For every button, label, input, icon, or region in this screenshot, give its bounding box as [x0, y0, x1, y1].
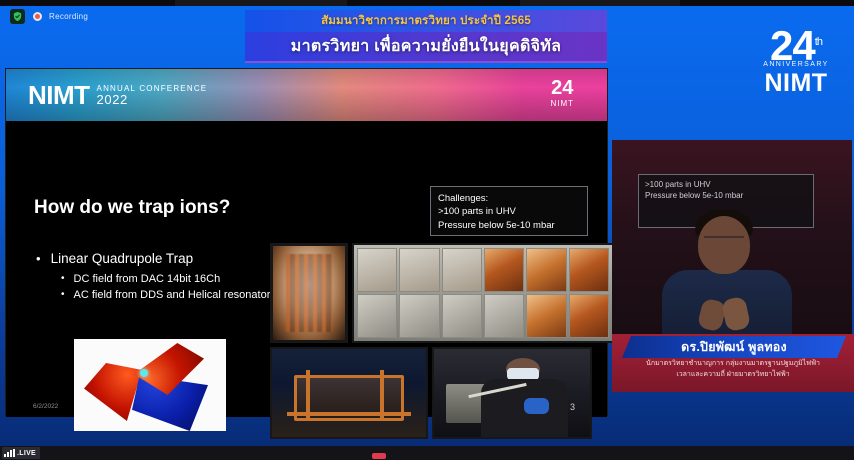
slide-logo-org: NIMT — [550, 99, 574, 108]
challenges-heading: Challenges: — [438, 192, 580, 205]
speaker-lower-third: ดร.ปิยพัฒน์ พูลทอง นักมาตรวิทยาชำนาญการ … — [612, 334, 854, 392]
speaker-name-strip: ดร.ปิยพัฒน์ พูลทอง — [622, 336, 846, 358]
live-badge[interactable]: .LIVE — [2, 447, 40, 459]
slide-nimt-wordmark: NIMT ANNUAL CONFERENCE 2022 — [28, 83, 207, 108]
photo-uhv-parts-tray — [352, 243, 614, 343]
challenges-line2: Pressure below 5e-10 mbar — [438, 219, 580, 232]
shared-screen-slide[interactable]: NIMT ANNUAL CONFERENCE 2022 24 NIMT How … — [5, 68, 608, 416]
slide-footer-date: 6/2/2022 — [33, 403, 58, 410]
bullet-level2: • AC field from DDS and Helical resonato… — [61, 288, 271, 303]
challenges-line1: >100 parts in UHV — [438, 205, 580, 218]
slide-anniversary-logo: 24 NIMT — [550, 78, 574, 108]
seminar-title-banner: สัมมนาวิชาการมาตรวิทยา ประจำปี 2565 มาตร… — [245, 10, 607, 63]
seminar-banner-line1-row: สัมมนาวิชาการมาตรวิทยา ประจำปี 2565 — [245, 10, 607, 32]
photo-researcher-holding-assembly — [432, 347, 592, 439]
speaker-name: ดร.ปิยพัฒน์ พูลทอง — [681, 337, 787, 357]
speaker-affiliation-line1: นักมาตรวิทยาชำนาญการ กลุ่มงานมาตรฐานปฐมภ… — [612, 359, 854, 370]
shield-check-icon — [10, 9, 25, 24]
bullet-dot-icon: • — [36, 251, 41, 267]
speaker-affiliation-line2: เวลาและความถี่ ฝ่ายมาตรวิทยาไฟฟ้า — [612, 370, 854, 381]
slide-page-number: 3 — [570, 402, 575, 412]
photo-optical-bench-assembly — [270, 347, 428, 439]
seminar-banner-line2-row: มาตรวิทยา เพื่อความยั่งยืนในยุคดิจิทัล — [245, 32, 607, 63]
bullet-dot-icon: • — [61, 288, 65, 303]
slide-bullet-list: • Linear Quadrupole Trap • DC field from… — [36, 251, 271, 305]
anniversary-ordinal: th — [815, 36, 822, 48]
bullet-level2-text: DC field from DAC 14bit 16Ch — [74, 272, 221, 287]
signal-bars-icon — [4, 449, 15, 457]
recording-label: Recording — [49, 12, 88, 21]
anniversary-word: ANNIVERSARY — [763, 61, 828, 68]
bullet-level1-text: Linear Quadrupole Trap — [51, 251, 194, 267]
trapped-ion-dot-icon — [140, 369, 148, 377]
slide-conference-line2: 2022 — [97, 93, 208, 107]
challenges-callout: Challenges: >100 parts in UHV Pressure b… — [430, 186, 588, 236]
saddle-potential-figure — [74, 339, 226, 431]
taskbar-indicator[interactable] — [372, 453, 386, 459]
sub-bullet-list: • DC field from DAC 14bit 16Ch • AC fiel… — [61, 272, 271, 303]
webcam-overlay-line1: >100 parts in UHV — [645, 179, 807, 190]
slide-wordmark-text: NIMT — [28, 83, 90, 108]
photo-pcb-trap-closeup — [270, 243, 348, 343]
bullet-level1: • Linear Quadrupole Trap — [36, 251, 271, 267]
anniversary-org: NIMT — [764, 69, 827, 98]
seminar-banner-line2: มาตรวิทยา เพื่อความยั่งยืนในยุคดิจิทัล — [291, 34, 562, 59]
slide-header-band: NIMT ANNUAL CONFERENCE 2022 24 NIMT — [6, 69, 607, 121]
slide-title: How do we trap ions? — [34, 197, 230, 219]
slide-body: How do we trap ions? • Linear Quadrupole… — [6, 121, 607, 417]
zoom-meeting-window: Recording สัมมนาวิชาการมาตรวิทยา ประจำปี… — [0, 0, 854, 460]
nimt-anniversary-logo: 24th ANNIVERSARY NIMT — [748, 14, 844, 110]
bullet-dot-icon: • — [61, 272, 65, 287]
bullet-level2-text: AC field from DDS and Helical resonator — [74, 288, 271, 303]
bottom-status-bar: .LIVE — [0, 446, 854, 460]
seminar-banner-line1: สัมมนาวิชาการมาตรวิทยา ประจำปี 2565 — [321, 12, 531, 30]
webcam-overlay-line2: Pressure below 5e-10 mbar — [645, 190, 807, 201]
record-dot-icon[interactable] — [31, 10, 43, 22]
slide-logo-number: 24 — [551, 78, 573, 98]
speaker-affiliation: นักมาตรวิทยาชำนาญการ กลุ่มงานมาตรฐานปฐมภ… — [612, 359, 854, 381]
live-label: .LIVE — [17, 450, 36, 457]
bullet-level2: • DC field from DAC 14bit 16Ch — [61, 272, 271, 287]
